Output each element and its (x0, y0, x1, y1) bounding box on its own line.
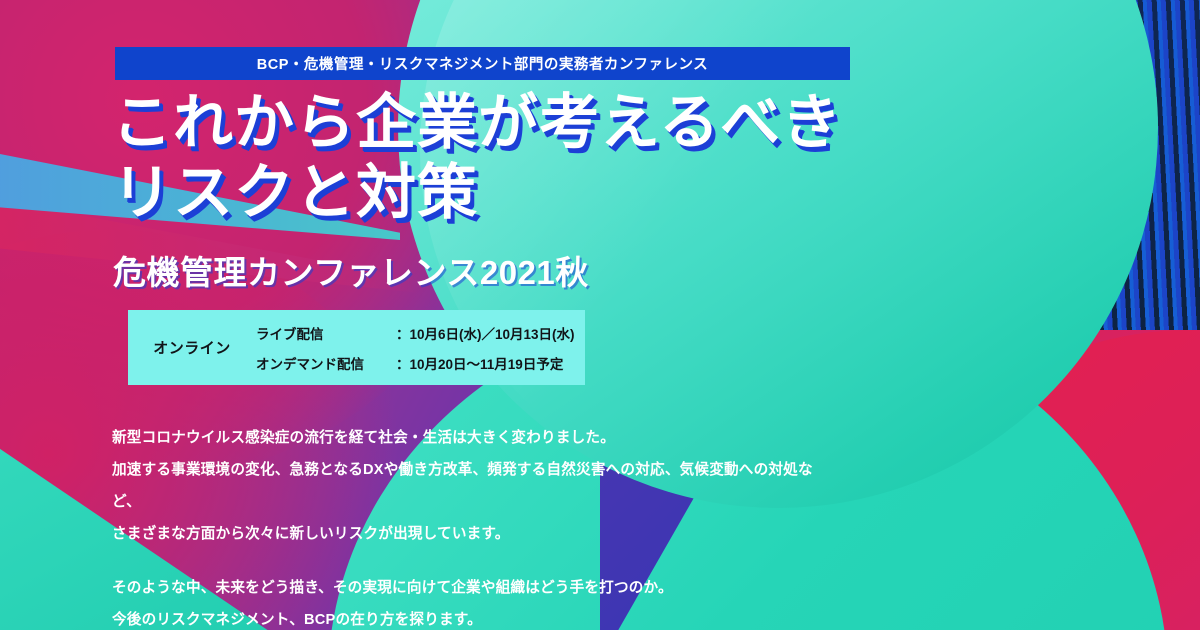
description-p1-l3: さまざまな方面から次々に新しいリスクが出現しています。 (112, 518, 832, 550)
schedule-value-live: ：10月6日(水)／10月13日(水) (396, 323, 575, 343)
schedule-rows: ライブ配信 ：10月6日(水)／10月13日(水) オンデマンド配信 ：10月2… (256, 323, 575, 373)
page-subtitle: 危機管理カンファレンス2021秋 (113, 246, 589, 294)
poster-content: BCP・危機管理・リスクマネジメント部門の実務者カンファレンス これから企業が考… (0, 0, 1200, 630)
schedule-label-ondemand: オンデマンド配信 (256, 353, 396, 373)
description-text: 新型コロナウイルス感染症の流行を経て社会・生活は大きく変わりました。 加速する事… (112, 422, 832, 630)
headline-line-1: これから企業が考えるべき (112, 88, 1012, 158)
description-p2-l1: そのような中、未来をどう描き、その実現に向けて企業や組織はどう手を打つのか。 (112, 572, 832, 604)
poster-canvas: BCP・危機管理・リスクマネジメント部門の実務者カンファレンス これから企業が考… (0, 0, 1200, 630)
description-p2-l2: 今後のリスクマネジメント、BCPの在り方を探ります。 (112, 604, 832, 630)
page-title: これから企業が考えるべき リスクと対策 (112, 88, 1012, 227)
delivery-format-label: オンライン (128, 337, 256, 358)
schedule-info-box: オンライン ライブ配信 ：10月6日(水)／10月13日(水) オンデマンド配信… (128, 310, 585, 385)
description-p1-l2: 加速する事業環境の変化、急務となるDXや働き方改革、頻発する自然災害への対応、気… (112, 454, 832, 518)
event-category-ribbon: BCP・危機管理・リスクマネジメント部門の実務者カンファレンス (115, 47, 850, 80)
schedule-value-ondemand: ：10月20日〜11月19日予定 (396, 353, 563, 373)
schedule-label-live: ライブ配信 (256, 323, 396, 343)
ribbon-label: BCP・危機管理・リスクマネジメント部門の実務者カンファレンス (257, 53, 708, 74)
paragraph-spacer (112, 550, 832, 572)
schedule-row-live: ライブ配信 ：10月6日(水)／10月13日(水) (256, 323, 575, 343)
headline-line-2: リスクと対策 (112, 158, 1012, 228)
schedule-row-ondemand: オンデマンド配信 ：10月20日〜11月19日予定 (256, 353, 575, 373)
description-p1-l1: 新型コロナウイルス感染症の流行を経て社会・生活は大きく変わりました。 (112, 422, 832, 454)
